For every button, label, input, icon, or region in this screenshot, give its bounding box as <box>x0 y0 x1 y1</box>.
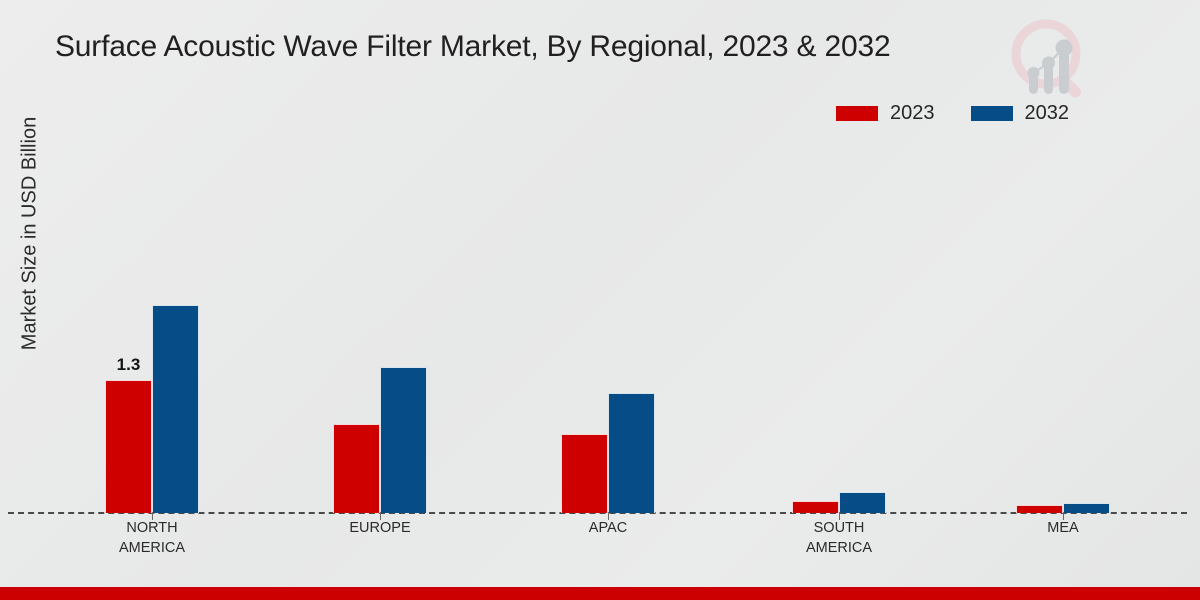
bar-2023-europe[interactable] <box>333 424 380 513</box>
plot-area: 1.3NORTHAMERICAEUROPEAPACSOUTHAMERICAMEA <box>0 0 1200 600</box>
bar-2032-mea[interactable] <box>1063 503 1110 513</box>
bar-group <box>1008 83 1118 513</box>
bar-group: 1.3 <box>97 83 207 513</box>
x-axis-label-mea: MEA <box>978 519 1148 539</box>
bar-2023-mea[interactable] <box>1016 505 1063 513</box>
bar-2023-apac[interactable] <box>561 434 608 513</box>
bar-value-label: 1.3 <box>117 355 141 375</box>
bar-2023-north-america[interactable]: 1.3 <box>105 380 152 513</box>
bar-2032-europe[interactable] <box>380 367 427 513</box>
bar-2032-south-america[interactable] <box>839 492 886 513</box>
bar-group <box>553 83 663 513</box>
footer-accent-bar <box>0 587 1200 600</box>
x-axis-label-north-america: NORTHAMERICA <box>67 519 237 558</box>
bars-layer: 1.3NORTHAMERICAEUROPEAPACSOUTHAMERICAMEA <box>0 0 1200 600</box>
bar-group <box>325 83 435 513</box>
x-axis-label-apac: APAC <box>523 519 693 539</box>
bar-2023-south-america[interactable] <box>792 501 839 513</box>
x-axis-label-south-america: SOUTHAMERICA <box>754 519 924 558</box>
bar-2032-apac[interactable] <box>608 393 655 513</box>
bar-2032-north-america[interactable] <box>152 305 199 513</box>
bar-group <box>784 83 894 513</box>
x-axis-label-europe: EUROPE <box>295 519 465 539</box>
